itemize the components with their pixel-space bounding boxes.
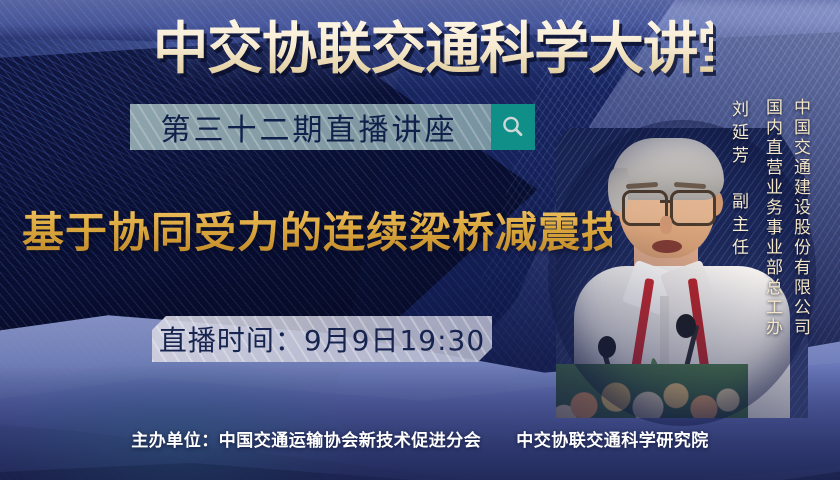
live-stream-poster: 中交协联交通科学大讲堂 第三十二期直播讲座 基于协同受力的连续梁桥减震技术 直播… [0, 0, 840, 480]
page-title: 中交协联交通科学大讲堂 [153, 18, 713, 84]
broadcast-time-badge: 直播时间：9月9日19:30 [152, 316, 492, 362]
broadcast-time-text: 直播时间：9月9日19:30 [152, 316, 492, 362]
background-hatch-left [0, 40, 386, 340]
subtitle-bar: 第三十二期直播讲座 [130, 104, 535, 150]
glow-bottom-left [0, 346, 420, 480]
speaker-name-role: 刘延芳 副主任 [726, 100, 751, 330]
speaker-department: 国内直营业务事业部总工办 [760, 98, 785, 348]
lecture-title: 基于协同受力的连续梁桥减震技术 [22, 206, 612, 260]
organizer-footer: 主办单位：中国交通运输协会新技术促进分会 中交协联交通科学研究院 [0, 426, 840, 450]
search-icon[interactable] [491, 104, 535, 150]
subtitle-label: 第三十二期直播讲座 [130, 104, 488, 150]
speaker-company: 中国交通建设股份有限公司 [788, 98, 813, 348]
